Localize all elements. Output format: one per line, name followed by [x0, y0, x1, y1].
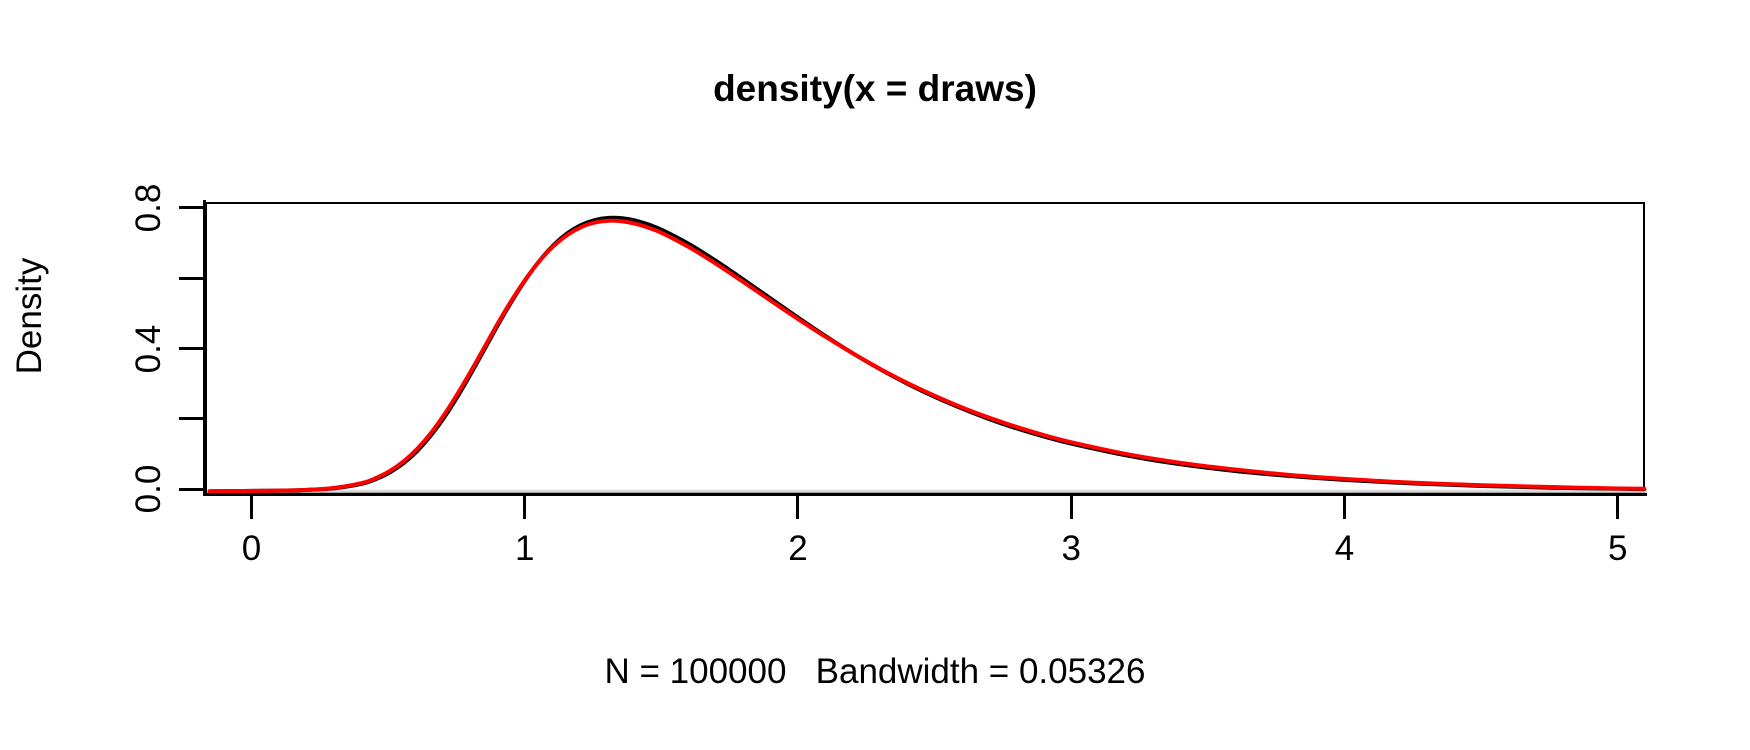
y-axis-tick-label: 0.8 [131, 148, 167, 268]
x-axis-line [205, 493, 1647, 496]
y-axis-tick-label: 0.4 [131, 289, 167, 409]
fitted-curve [210, 221, 1645, 492]
x-axis-tick-label: 4 [1284, 530, 1404, 568]
x-axis-tick-label: 1 [465, 530, 585, 568]
kde-curve [210, 218, 1645, 491]
y-axis-tick [179, 488, 203, 491]
y-axis-tick-label: 0.0 [131, 429, 167, 549]
y-axis-title: Density [11, 216, 49, 416]
x-axis-tick-label: 3 [1011, 530, 1131, 568]
x-axis-tick [796, 496, 799, 519]
y-axis-tick [179, 277, 203, 280]
y-axis-tick [179, 417, 203, 420]
x-axis-tick-label: 5 [1558, 530, 1678, 568]
x-axis-tick [250, 496, 253, 519]
density-curves [207, 204, 1647, 496]
page-title: density(x = draws) [0, 68, 1750, 110]
y-axis-tick [179, 347, 203, 350]
y-axis-tick [179, 206, 203, 209]
x-axis-tick [1343, 496, 1346, 519]
plot-panel [205, 202, 1645, 494]
x-axis-tick-label: 0 [191, 530, 311, 568]
x-axis-tick-label: 2 [738, 530, 858, 568]
x-axis-tick [523, 496, 526, 519]
plot-subtitle: N = 100000 Bandwidth = 0.05326 [0, 652, 1750, 692]
density-plot: density(x = draws) Density 0.00.40.8 012… [0, 0, 1750, 750]
x-axis-tick [1616, 496, 1619, 519]
x-axis-tick [1070, 496, 1073, 519]
